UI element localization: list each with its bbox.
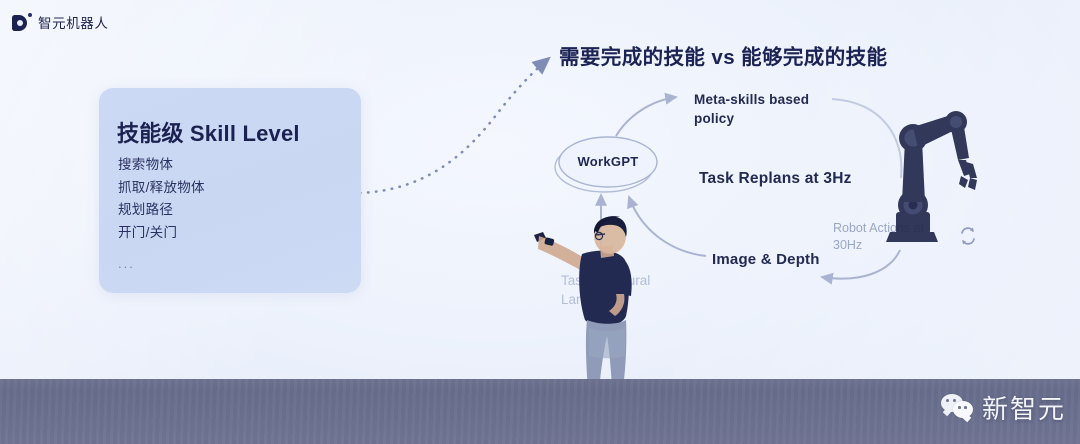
stage-floor [0, 379, 1080, 444]
meta-skills-label: Meta-skills based policy [694, 90, 824, 128]
list-item: 搜索物体 [118, 154, 205, 177]
refresh-cycle-icon [957, 225, 979, 247]
card-title: 技能级 Skill Level [117, 116, 300, 148]
image-depth-label: Image & Depth [712, 250, 820, 270]
list-item: 规划路径 [118, 199, 205, 222]
skill-list: 搜索物体 抓取/释放物体 规划路径 开门/关门 ... [118, 154, 205, 276]
brand-logo-text: 智元机器人 [38, 12, 109, 32]
list-item-ellipsis: ... [118, 244, 205, 276]
skill-level-card: 技能级 Skill Level 搜索物体 抓取/释放物体 规划路径 开门/关门 … [99, 88, 361, 293]
arrow-workgpt-to-metaskills [616, 97, 676, 136]
watermark: 新智元 [941, 389, 1066, 426]
wechat-icon [941, 394, 975, 421]
dotted-curved-arrow-icon [360, 59, 548, 193]
page-title: 需要完成的技能 vs 能够完成的技能 [559, 40, 887, 70]
task-replans-label: Task Replans at 3Hz [699, 170, 852, 188]
list-item: 开门/关门 [118, 222, 205, 245]
arrow-robot-to-imagedepth [822, 250, 900, 279]
workgpt-node-label: WorkGPT [559, 154, 657, 169]
brand-logo: 智元机器人 [12, 12, 109, 32]
watermark-text: 新智元 [982, 389, 1066, 426]
list-item: 抓取/释放物体 [118, 177, 205, 200]
screenshot-root: 智元机器人 技能级 Skill Level 搜索物体 抓取/释放物体 规划路径 … [0, 0, 1080, 444]
robot-d-logo-icon [12, 13, 31, 32]
robot-arm-icon [882, 100, 997, 245]
